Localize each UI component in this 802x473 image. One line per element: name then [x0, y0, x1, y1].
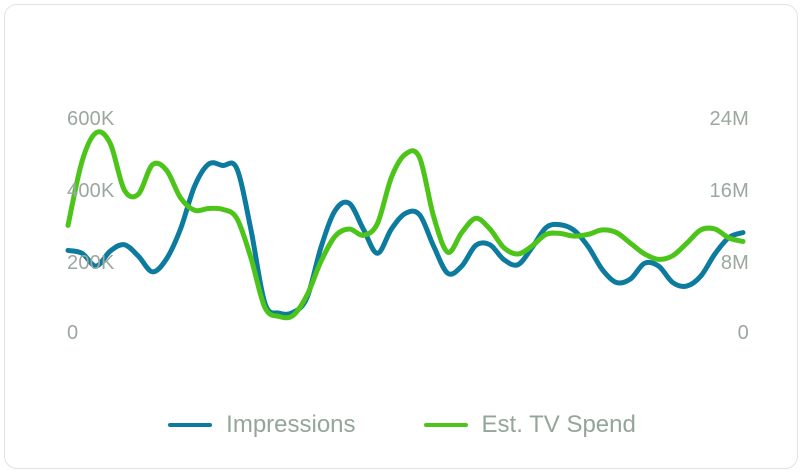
- axis-left-tick-400k: 400K: [67, 181, 115, 201]
- axis-right-tick-24m: 24M: [709, 109, 749, 129]
- legend-item-est-tv-spend[interactable]: Est. TV Spend: [424, 413, 636, 437]
- axis-right-tick-0: 0: [738, 323, 749, 343]
- legend-label-est-tv-spend: Est. TV Spend: [482, 413, 636, 437]
- chart-card: 600K 400K 200K 0 24M 16M 8M 0 Impression…: [4, 4, 798, 469]
- axis-right-tick-8m: 8M: [721, 253, 749, 273]
- series-line-impressions: [68, 163, 743, 315]
- axis-left-tick-600k: 600K: [67, 109, 115, 129]
- chart-legend: Impressions Est. TV Spend: [5, 413, 799, 437]
- chart-plot-area: 600K 400K 200K 0 24M 16M 8M 0: [5, 5, 799, 470]
- legend-label-impressions: Impressions: [226, 413, 355, 437]
- screenshot-root: 600K 400K 200K 0 24M 16M 8M 0 Impression…: [0, 0, 802, 473]
- dual-axis-line-chart: [5, 5, 799, 470]
- series-line-est-tv-spend: [68, 132, 743, 318]
- axis-right-tick-16m: 16M: [709, 181, 749, 201]
- legend-line-icon-impressions: [168, 423, 212, 427]
- legend-item-impressions[interactable]: Impressions: [168, 413, 355, 437]
- series-path-group: [68, 132, 743, 318]
- axis-left-tick-0: 0: [67, 323, 78, 343]
- axis-left-tick-200k: 200K: [67, 253, 115, 273]
- legend-line-icon-est-tv-spend: [424, 423, 468, 427]
